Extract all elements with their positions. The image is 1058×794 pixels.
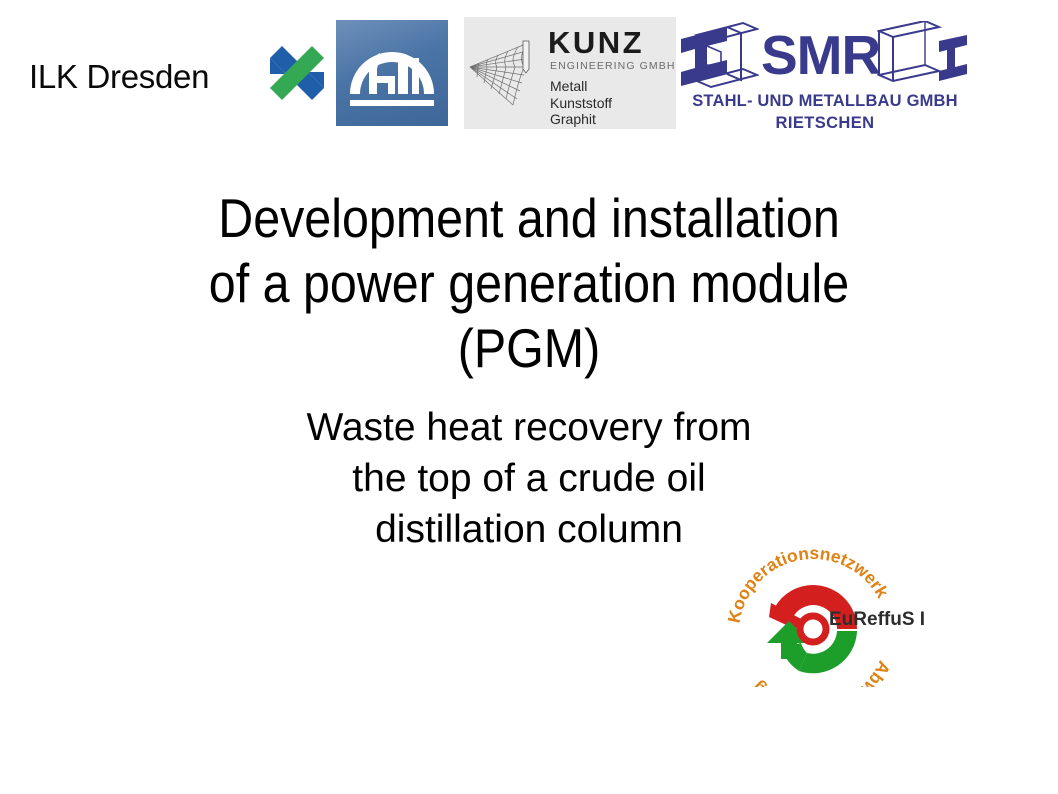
ilk-dresden-wordmark: ILK Dresden <box>29 58 209 96</box>
smr-stahlbau-logo: SMR STAHL- UND METALLBAU GMBH RIETSCHEN <box>681 15 969 133</box>
kunz-material-3: Graphit <box>550 111 612 128</box>
kunz-name: KUNZ <box>548 25 644 61</box>
eureffus-label: EuReffuS I <box>829 609 925 631</box>
kunz-material-2: Kunststoff <box>550 95 612 112</box>
eureffus-network-logo: Kooperationsnetzwerk Abwärmenutzung <box>727 547 927 687</box>
i-beam-icon <box>681 21 759 89</box>
title-line-1: Development and installation <box>63 186 994 251</box>
partner-logo-strip: ILK Dresden <box>0 0 1058 145</box>
gab-arch-icon <box>336 20 448 126</box>
subtitle-line-1: Waste heat recovery from <box>0 402 1058 453</box>
slide-subtitle: Waste heat recovery from the top of a cr… <box>0 402 1058 555</box>
title-line-3: (PGM) <box>63 316 994 381</box>
i-beam-icon <box>877 21 969 89</box>
subtitle-line-2: the top of a crude oil <box>0 453 1058 504</box>
smr-company-line: STAHL- UND METALLBAU GMBH <box>681 92 969 111</box>
kunz-engineering-logo: KUNZ ENGINEERING GMBH Metall Kunststoff … <box>464 17 676 129</box>
title-line-2: of a power generation module <box>63 251 994 316</box>
kunz-subtitle: ENGINEERING GMBH <box>550 60 676 72</box>
gab-engineering-logo <box>336 20 448 126</box>
kunz-mesh-funnel-icon <box>466 33 552 113</box>
smr-letters: SMR <box>761 23 880 87</box>
kunz-materials: Metall Kunststoff Graphit <box>550 78 612 128</box>
title-slide: ILK Dresden <box>0 0 1058 794</box>
smr-location-line: RIETSCHEN <box>681 114 969 133</box>
smr-emblem: SMR <box>681 15 969 93</box>
ilk-x-mark-icon <box>268 44 326 102</box>
slide-title: Development and installation of a power … <box>63 186 994 381</box>
kunz-material-1: Metall <box>550 78 612 95</box>
